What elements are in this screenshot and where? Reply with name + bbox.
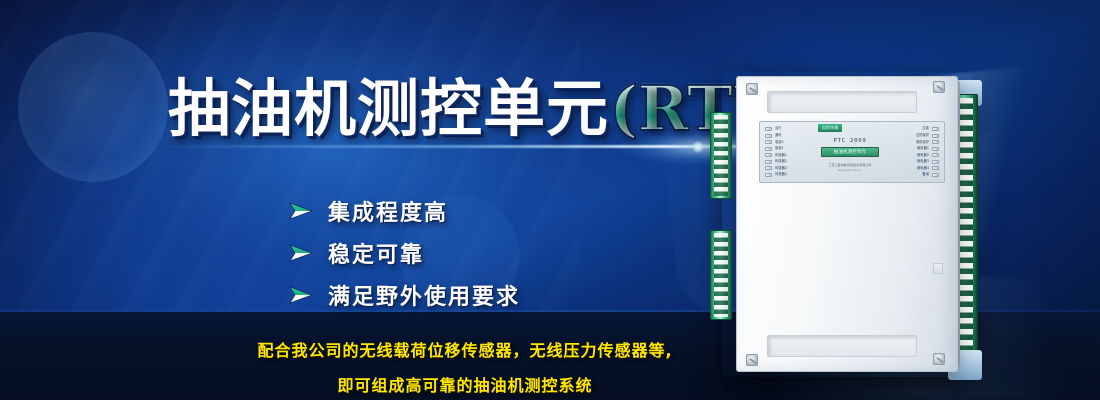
arrow-right-icon	[288, 201, 314, 221]
led-indicator-icon	[765, 160, 772, 164]
led-indicator-icon	[765, 140, 772, 144]
device-led-column-left: 运行 通讯 电源2 电源1	[765, 126, 817, 178]
arrow-right-icon	[288, 243, 314, 263]
led-indicator-icon	[765, 134, 772, 138]
led-row: 传感器4	[765, 172, 817, 178]
led-label: 传感器2	[775, 160, 787, 163]
device-slot-top	[767, 91, 917, 113]
led-row: 电机保护	[916, 139, 939, 145]
led-row: 通讯	[765, 133, 817, 139]
list-item: 集成程度高	[288, 190, 520, 232]
device-led-column-right: 过载 过热保护 电机保护 继电器1	[883, 126, 939, 178]
led-row: 继电器3	[917, 159, 939, 165]
led-label: 继电器3	[917, 160, 929, 163]
product-banner: 抽油机测控单元(RTU) 集成程度高 稳定可靠	[0, 0, 1100, 400]
screw-icon	[746, 83, 758, 95]
device-terminal-block-left-2	[710, 230, 732, 320]
led-row: 电源2	[765, 139, 817, 145]
page-title-cn: 抽油机测控单元	[168, 72, 609, 145]
led-indicator-icon	[765, 147, 772, 151]
device-lcd-display: 抽油机测控单元	[821, 147, 879, 157]
led-row: 传感器3	[765, 165, 817, 171]
led-indicator-icon	[932, 153, 939, 157]
led-indicator-icon	[765, 166, 772, 170]
led-indicator-icon	[932, 147, 939, 151]
device-marking	[933, 263, 943, 274]
led-label: 过载	[922, 127, 929, 130]
led-label: 传感器1	[775, 154, 787, 157]
led-label: 过热保护	[916, 134, 929, 137]
device-slot-bottom	[767, 335, 917, 357]
screw-icon	[746, 354, 758, 366]
led-row: 过载	[922, 126, 939, 132]
device-website: www.jsrtu.com.cn	[838, 169, 862, 172]
led-row: 过热保护	[916, 133, 939, 139]
led-indicator-icon	[932, 134, 939, 138]
led-indicator-icon	[932, 173, 939, 177]
device-terminal-pins	[714, 233, 728, 317]
led-indicator-icon	[932, 166, 939, 170]
list-item-label: 集成程度高	[328, 195, 448, 227]
led-label: 电源2	[775, 141, 784, 144]
led-row: 电源1	[765, 146, 817, 152]
led-row: 运行	[765, 126, 817, 132]
list-item: 满足野外使用要求	[288, 274, 520, 316]
led-row: 继电器4	[917, 165, 939, 171]
device-front-panel: 运行 通讯 电源2 电源1	[759, 121, 945, 183]
led-label: 继电器4	[917, 167, 929, 170]
led-label: 电源1	[775, 147, 784, 150]
list-item-label: 稳定可靠	[328, 237, 424, 269]
led-indicator-icon	[765, 127, 772, 131]
list-item: 稳定可靠	[288, 232, 520, 274]
device-model-label: PTC 2009	[834, 138, 867, 144]
device-badge: 远程终端	[818, 124, 842, 132]
led-label: 通讯	[775, 134, 782, 137]
led-indicator-icon	[932, 140, 939, 144]
led-label: 继电器1	[917, 147, 929, 150]
device-body: 运行 通讯 电源2 电源1	[736, 76, 958, 372]
led-indicator-icon	[932, 127, 939, 131]
led-label: 继电器2	[917, 154, 929, 157]
led-row: 继电器2	[917, 152, 939, 158]
led-indicator-icon	[765, 173, 772, 177]
arrow-right-icon	[288, 285, 314, 305]
product-device-image: 运行 通讯 电源2 电源1	[700, 62, 1030, 382]
led-indicator-icon	[932, 160, 939, 164]
device-panel-center: 远程终端 PTC 2009 抽油机测控单元 江苏三鑫特种传感技术有限公司 www…	[817, 126, 883, 178]
led-label: 传感器4	[775, 173, 787, 176]
screw-icon	[933, 81, 945, 93]
led-label: 备用	[922, 173, 929, 176]
device-terminal-block-left-1	[710, 112, 732, 199]
led-label: 传感器3	[775, 167, 787, 170]
led-row: 传感器1	[765, 152, 817, 158]
device-terminal-pins	[714, 115, 728, 196]
led-row: 备用	[922, 172, 939, 178]
led-label: 运行	[775, 127, 782, 130]
led-row: 传感器2	[765, 159, 817, 165]
feature-list: 集成程度高 稳定可靠 满足野外使用要求	[288, 190, 520, 316]
list-item-label: 满足野外使用要求	[328, 279, 520, 311]
screw-icon	[933, 353, 945, 365]
led-label: 电机保护	[916, 141, 929, 144]
device-manufacturer: 江苏三鑫特种传感技术有限公司	[829, 163, 872, 167]
led-row: 继电器1	[917, 146, 939, 152]
led-indicator-icon	[765, 153, 772, 157]
